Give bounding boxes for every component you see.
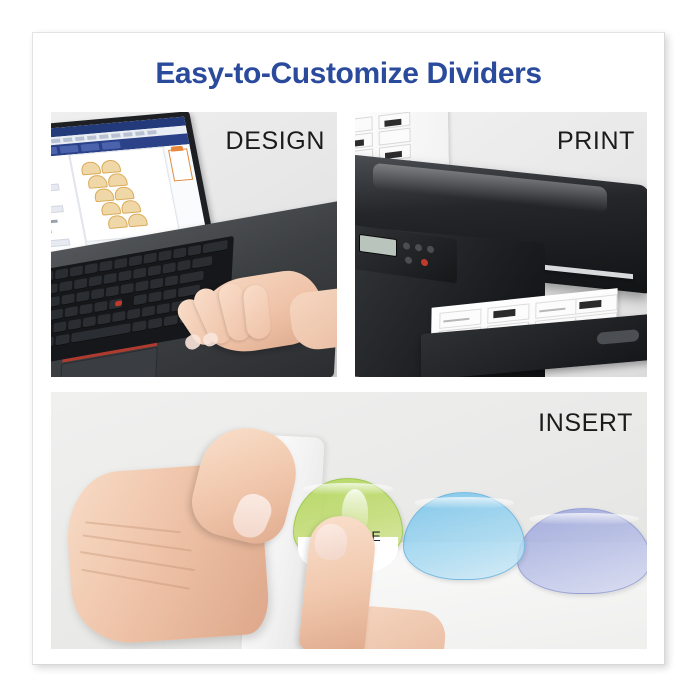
printer-button-2[interactable] [415, 244, 422, 252]
panel-label-design: DESIGN [226, 127, 325, 156]
hand-on-keyboard [179, 259, 337, 377]
printer-button-1[interactable] [403, 242, 410, 250]
product-image-stage: Easy-to-Customize Dividers [0, 0, 700, 700]
printer-button-3[interactable] [427, 245, 434, 253]
tray-grip[interactable] [597, 329, 639, 345]
purple-tab-highlight [529, 513, 640, 525]
app-design-canvas [69, 146, 180, 242]
purple-tab [517, 508, 647, 594]
panel-insert: FINANCE INSERT [51, 392, 647, 649]
blue-tab-highlight [414, 497, 515, 509]
panel-label-print: PRINT [557, 127, 635, 156]
printer-lcd-display [359, 234, 397, 257]
panel-design: DESIGN [51, 112, 337, 377]
printer-start-button[interactable] [405, 256, 412, 264]
printer-stop-button[interactable] [421, 259, 428, 267]
panel-print: PRINT [355, 112, 647, 377]
page-title: Easy-to-Customize Dividers [33, 57, 664, 91]
panel-label-insert: INSERT [538, 409, 633, 438]
divider-preview [168, 148, 193, 181]
white-card: Easy-to-Customize Dividers [32, 32, 665, 665]
pressing-finger-hand [297, 516, 477, 649]
